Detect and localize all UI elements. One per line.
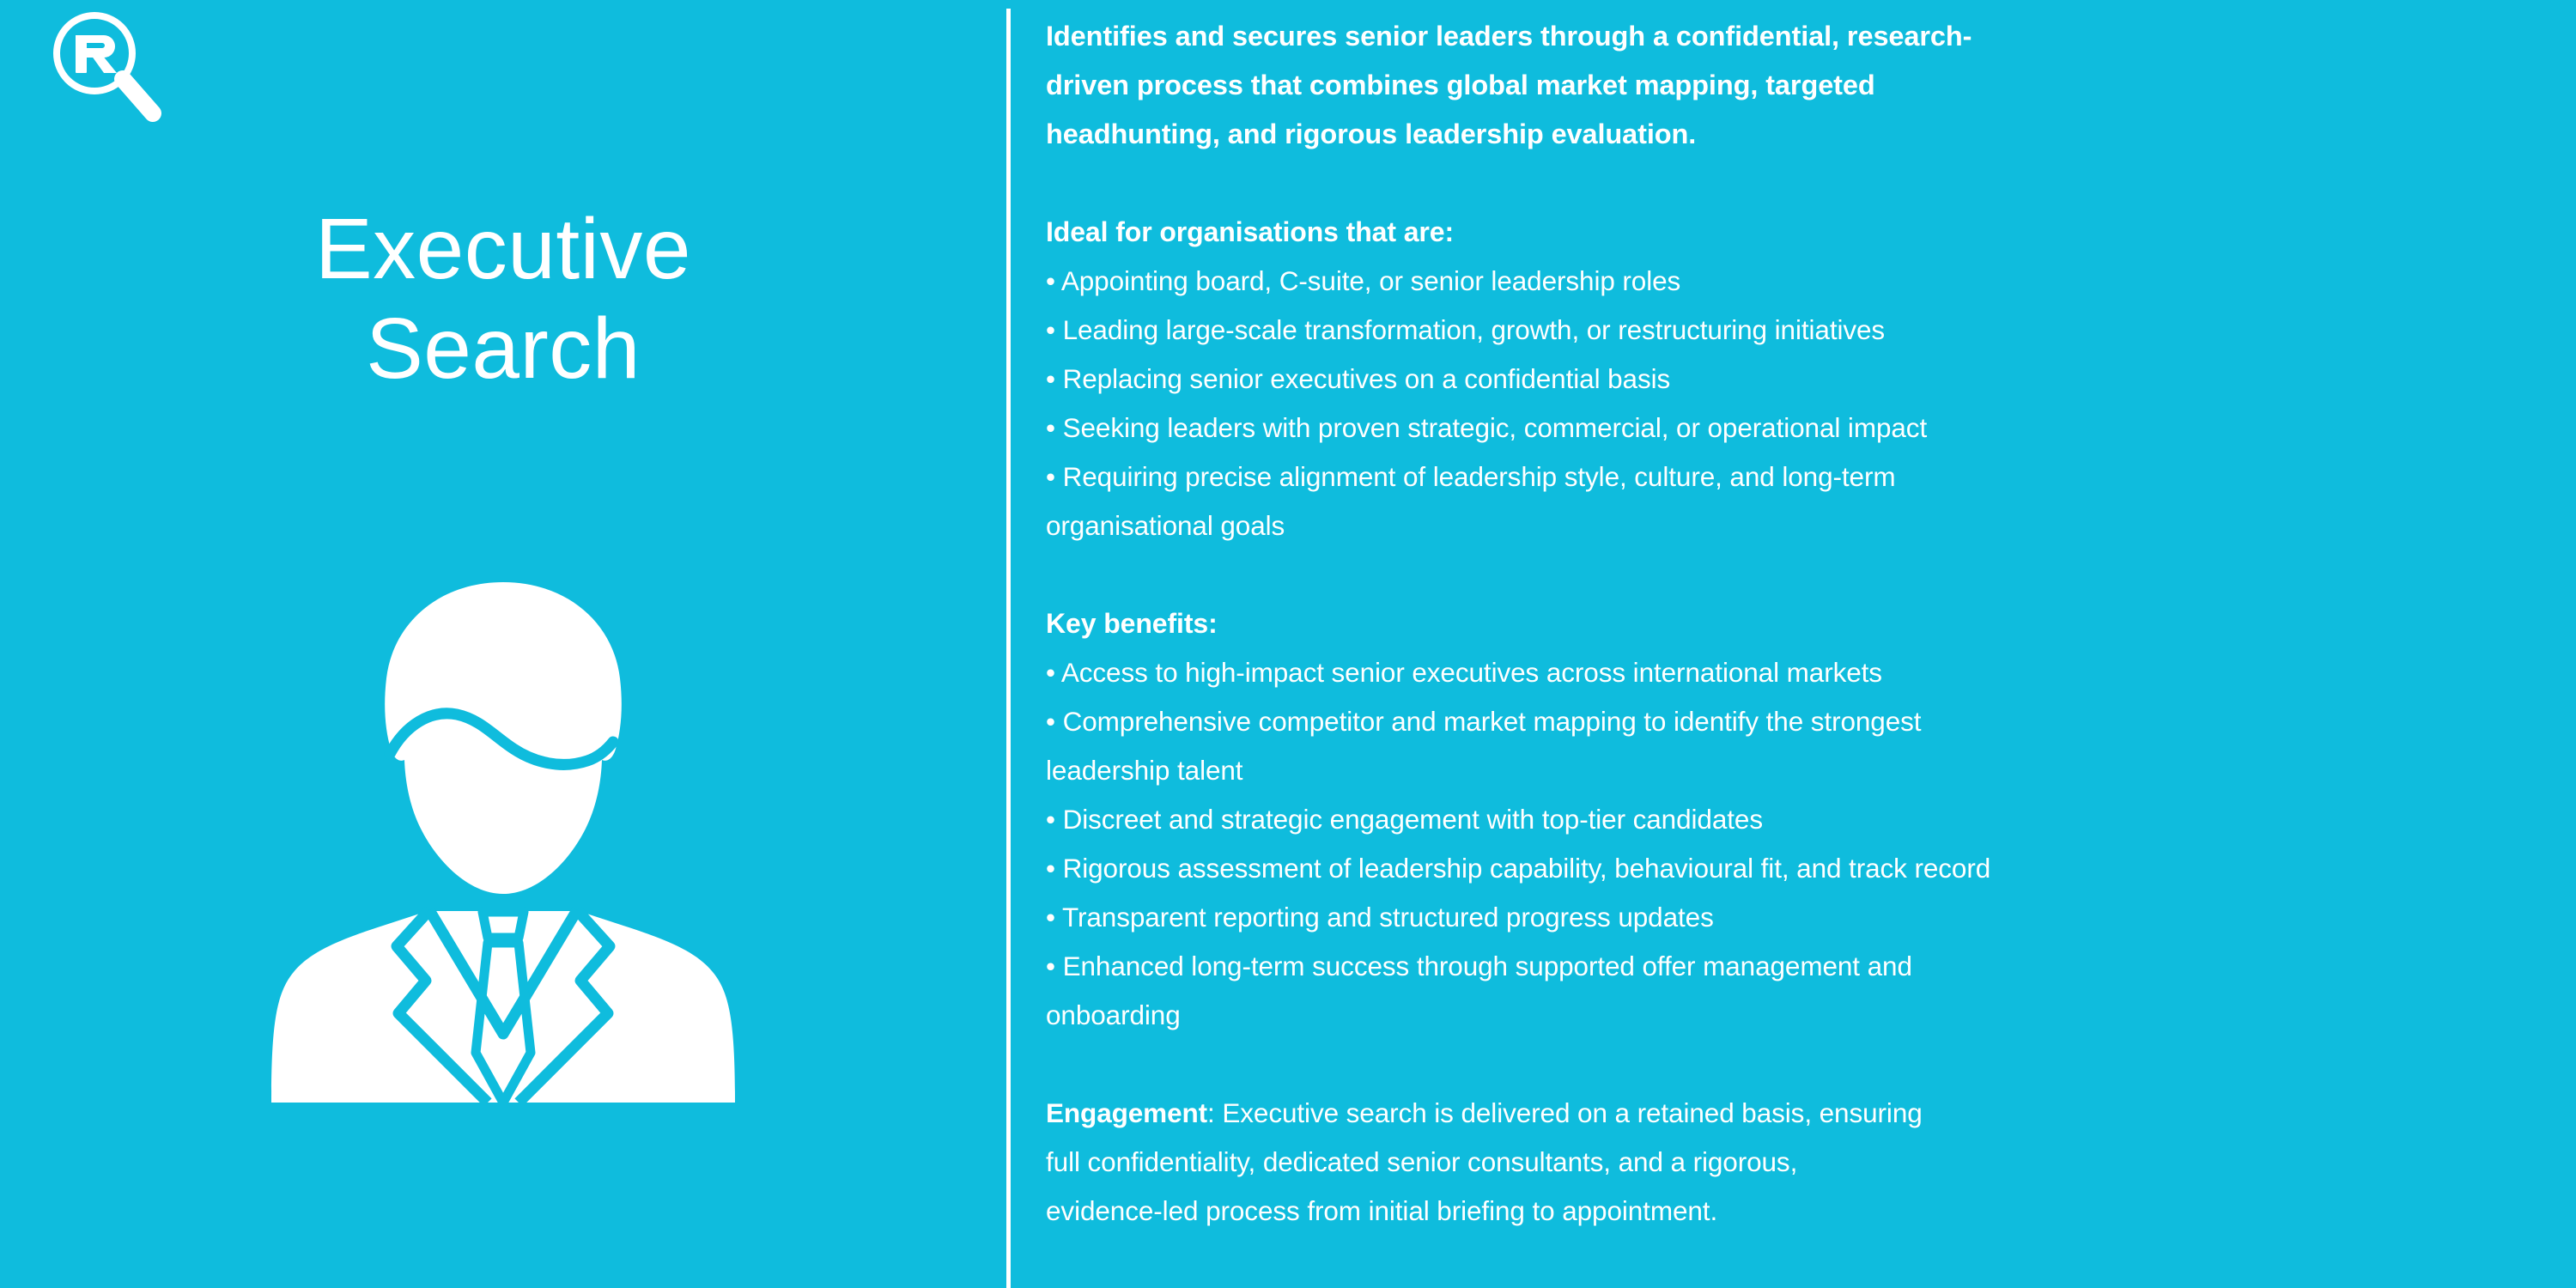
key-benefits-heading: Key benefits: <box>1046 599 2557 648</box>
businessman-avatar-icon <box>246 570 761 1103</box>
intro-paragraph: Identifies and secures senior leaders th… <box>1046 12 2557 159</box>
list-item: • Requiring precise alignment of leaders… <box>1046 453 2557 501</box>
list-item-continuation: leadership talent <box>1046 746 2557 795</box>
list-item: • Comprehensive competitor and market ma… <box>1046 697 2557 746</box>
businessman-avatar-glyph <box>246 570 761 1103</box>
vertical-divider <box>1006 9 1011 1288</box>
list-item: • Access to high-impact senior executive… <box>1046 648 2557 697</box>
section-gap <box>1046 159 2557 208</box>
engagement-line-1: Engagement: Executive search is delivere… <box>1046 1089 2557 1138</box>
right-content-panel: Identifies and secures senior leaders th… <box>1046 12 2557 1288</box>
brand-logo <box>26 7 172 127</box>
engagement-text-part: Executive search is delivered on a retai… <box>1222 1097 1922 1128</box>
engagement-separator: : <box>1207 1097 1222 1128</box>
ideal-for-section: Ideal for organisations that are: • Appo… <box>1046 208 2557 550</box>
page-title: Executive Search <box>0 199 1006 398</box>
list-item: • Leading large-scale transformation, gr… <box>1046 306 2557 355</box>
section-gap <box>1046 1040 2557 1089</box>
engagement-line-2: full confidentiality, dedicated senior c… <box>1046 1138 2557 1187</box>
engagement-label: Engagement <box>1046 1097 1207 1128</box>
list-item: • Appointing board, C-suite, or senior l… <box>1046 257 2557 306</box>
intro-line: Identifies and secures senior leaders th… <box>1046 12 2557 61</box>
list-item: • Replacing senior executives on a confi… <box>1046 355 2557 404</box>
ideal-for-heading: Ideal for organisations that are: <box>1046 208 2557 257</box>
list-item: • Transparent reporting and structured p… <box>1046 893 2557 942</box>
executive-search-card: Executive Search <box>0 0 2576 1288</box>
section-gap <box>1046 550 2557 599</box>
engagement-line-3: evidence-led process from initial briefi… <box>1046 1187 2557 1236</box>
left-panel: Executive Search <box>0 0 1006 1288</box>
intro-line: driven process that combines global mark… <box>1046 61 2557 110</box>
page-title-line-1: Executive <box>0 199 1006 299</box>
magnifying-glass-r-logo-icon <box>26 7 172 127</box>
engagement-paragraph: Engagement: Executive search is delivere… <box>1046 1089 2557 1236</box>
key-benefits-section: Key benefits: • Access to high-impact se… <box>1046 599 2557 1040</box>
intro-line: headhunting, and rigorous leadership eva… <box>1046 110 2557 159</box>
list-item-continuation: organisational goals <box>1046 501 2557 550</box>
list-item: • Enhanced long-term success through sup… <box>1046 942 2557 991</box>
page-title-line-2: Search <box>0 299 1006 398</box>
list-item: • Seeking leaders with proven strategic,… <box>1046 404 2557 453</box>
list-item-continuation: onboarding <box>1046 991 2557 1040</box>
list-item: • Rigorous assessment of leadership capa… <box>1046 844 2557 893</box>
list-item: • Discreet and strategic engagement with… <box>1046 795 2557 844</box>
